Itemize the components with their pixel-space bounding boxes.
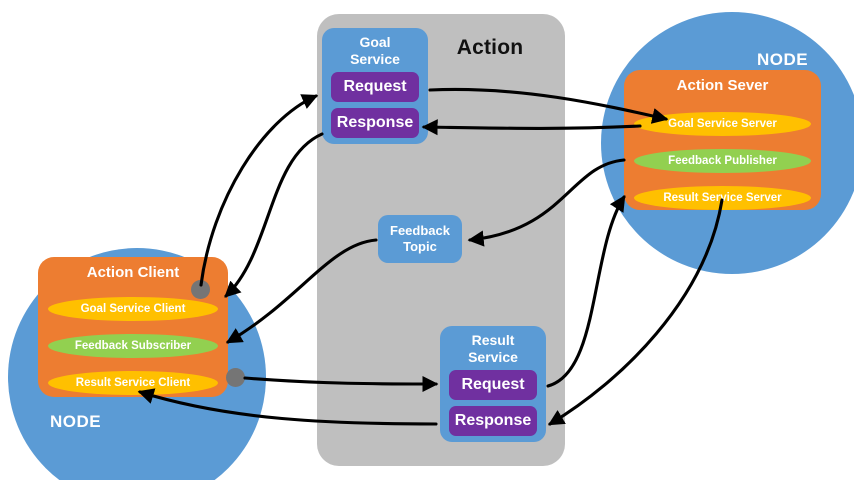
action-server-title: Action Sever <box>624 70 821 94</box>
server-node-label: NODE <box>757 50 808 70</box>
result-service-title-line1: Result <box>440 332 546 349</box>
goal-service-response-box[interactable]: Response <box>331 108 419 138</box>
client-node-label: NODE <box>50 412 101 432</box>
goal-service-server-pill[interactable]: Goal Service Server <box>634 112 811 136</box>
result-service-request-box[interactable]: Request <box>449 370 537 400</box>
arrow-goal-response-to-client <box>226 134 322 296</box>
goal-service-title-line2: Service <box>322 51 428 68</box>
feedback-topic-box[interactable]: Feedback Topic <box>378 215 462 263</box>
feedback-topic-title-line2: Topic <box>403 239 437 255</box>
action-client-title: Action Client <box>38 257 228 281</box>
goal-service-client-pill[interactable]: Goal Service Client <box>48 297 218 321</box>
feedback-subscriber-pill[interactable]: Feedback Subscriber <box>48 334 218 358</box>
result-service-box: Result Service Request Response <box>440 326 546 442</box>
goal-service-title: Goal Service <box>322 28 428 68</box>
feedback-topic-title-line1: Feedback <box>390 223 450 239</box>
result-service-server-pill[interactable]: Result Service Server <box>634 186 811 210</box>
result-service-title-line2: Service <box>440 349 546 366</box>
goal-service-box: Goal Service Request Response <box>322 28 428 144</box>
result-service-client-connector-dot <box>226 368 245 387</box>
result-service-response-box[interactable]: Response <box>449 406 537 436</box>
feedback-publisher-pill[interactable]: Feedback Publisher <box>634 149 811 173</box>
action-client-block: Action Client Goal Service Client Feedba… <box>38 257 228 397</box>
goal-service-client-connector-dot <box>191 280 210 299</box>
action-server-block: Action Sever Goal Service Server Feedbac… <box>624 70 821 210</box>
result-service-title: Result Service <box>440 326 546 366</box>
result-service-client-pill[interactable]: Result Service Client <box>48 371 218 395</box>
action-panel-title: Action <box>430 36 550 60</box>
diagram-canvas: Action Goal Service Request Response Fee… <box>0 0 854 480</box>
goal-service-title-line1: Goal <box>322 34 428 51</box>
goal-service-request-box[interactable]: Request <box>331 72 419 102</box>
